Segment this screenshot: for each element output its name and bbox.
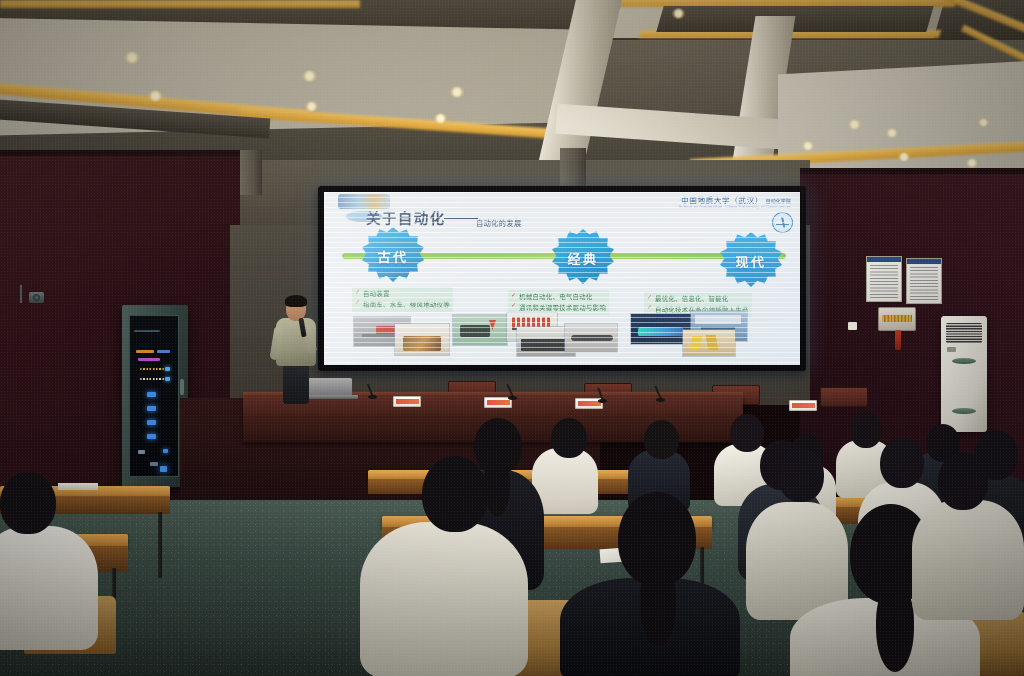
student-head <box>422 456 488 532</box>
wall-trim-left <box>0 150 240 156</box>
student-head <box>644 420 679 459</box>
lecture-hall-photo: 中国地质大学（武汉） 自动化学院 School of Automation, C… <box>0 0 1024 676</box>
desk-leg <box>158 512 162 578</box>
downlight-7 <box>848 119 861 130</box>
slide-subtitle: 自动化的发展 <box>476 219 522 229</box>
downlight-11 <box>966 158 978 168</box>
rack-led <box>160 466 167 472</box>
student-head <box>850 412 882 448</box>
rack-led <box>147 392 156 397</box>
ac-brand-logo <box>947 347 956 352</box>
student-head <box>778 448 824 502</box>
electrical-panel <box>878 307 916 331</box>
rack-led <box>147 420 156 425</box>
rack-led <box>136 350 154 353</box>
notice-poster-left <box>866 256 902 302</box>
desk-leg <box>700 547 704 587</box>
poster-text-lines <box>910 267 938 300</box>
ac-intake-grille <box>946 323 982 343</box>
modern-robotic-arms-photo <box>682 329 736 357</box>
rack-led <box>140 378 164 380</box>
bullet-group-ancient: ✓ 自动装置 ✓ 指南车、水车、候风地动仪等 <box>352 287 453 312</box>
book-on-desk-left <box>58 483 98 490</box>
cug-crest-icon <box>772 212 793 233</box>
microphone-base-1 <box>368 395 377 399</box>
downlight-3 <box>302 70 317 82</box>
bullet-text: 最优化、信息化、智能化 <box>655 294 729 303</box>
timeline-badge-classic-label: 经典 <box>567 249 598 268</box>
rack-led <box>150 462 158 466</box>
check-icon: ✓ <box>355 290 360 296</box>
rack-led <box>138 358 160 361</box>
student-head <box>0 472 56 534</box>
student-torso <box>912 500 1024 620</box>
slide-decoration-banner <box>338 194 390 209</box>
light-switch-plate[interactable] <box>848 322 857 330</box>
check-icon: ✓ <box>511 293 516 299</box>
student-head <box>938 452 988 510</box>
wall-pillar-center <box>240 150 262 195</box>
presentation-slide: 中国地质大学（武汉） 自动化学院 School of Automation, C… <box>324 192 800 365</box>
microphone-base-2 <box>508 396 517 400</box>
poster-header-bar <box>867 257 901 262</box>
check-icon: ✓ <box>647 305 652 311</box>
downlight-5 <box>450 86 464 98</box>
downlight-13 <box>672 8 685 19</box>
rack-glass-door[interactable] <box>129 315 179 477</box>
student-head <box>551 418 587 458</box>
downlight-4 <box>305 101 318 112</box>
poster-text-lines <box>870 265 898 298</box>
nameplate-1 <box>393 396 421 407</box>
podium-chair-5 <box>820 387 868 407</box>
rack-antenna <box>20 285 22 303</box>
timeline-badge-modern: 现代 <box>720 232 782 290</box>
presenter-hair <box>285 295 307 307</box>
student-torso <box>360 522 528 676</box>
check-icon: ✓ <box>511 303 516 309</box>
fire-extinguisher <box>895 330 901 350</box>
rack-led <box>138 450 145 454</box>
presenter-trousers <box>283 364 309 404</box>
rack-led <box>163 449 168 453</box>
rack-led <box>147 406 156 411</box>
poster-header-bar <box>907 259 941 264</box>
slide-title: 关于自动化 <box>366 208 446 229</box>
rack-led <box>147 434 156 439</box>
bullet-text: 机械自动化、电气自动化 <box>519 292 593 301</box>
check-icon: ✓ <box>647 295 652 301</box>
rack-led <box>140 368 164 370</box>
student-ponytail <box>484 458 510 516</box>
downlight-1 <box>124 51 140 64</box>
bullet-text: 指南车、水车、候风地动仪等 <box>363 300 450 309</box>
led-video-wall[interactable]: 中国地质大学（武汉） 自动化学院 School of Automation, C… <box>318 186 806 371</box>
rack-led <box>165 367 170 371</box>
timeline-badge-modern-label: 现代 <box>735 252 766 271</box>
presenter-speaking <box>272 296 320 404</box>
floor-standing-air-conditioner <box>941 316 987 432</box>
timeline-badge-ancient-label: 古代 <box>377 247 408 266</box>
ancient-waterwheel-photo <box>452 314 508 346</box>
slide-title-dash <box>444 218 478 219</box>
wall-trim-right <box>800 168 1024 174</box>
notice-poster-right <box>906 258 942 304</box>
check-icon: ✓ <box>355 300 360 306</box>
rack-led <box>157 350 170 353</box>
rack-led <box>134 330 160 332</box>
downlight-6 <box>434 113 447 124</box>
early-aircraft-photo <box>564 323 618 353</box>
student-torso <box>0 526 98 650</box>
camera-lens-icon <box>33 294 40 301</box>
university-wordmark: 中国地质大学（武汉） 自动化学院 School of Automation, C… <box>679 197 791 210</box>
downlight-8 <box>886 128 898 138</box>
student-head <box>730 414 764 452</box>
downlight-9 <box>802 141 814 151</box>
student-ponytail <box>640 564 676 646</box>
student-head <box>880 438 924 488</box>
cove-light-upper-left <box>0 0 360 8</box>
ancient-seismograph-drawing <box>394 323 450 356</box>
nameplate-4 <box>789 400 817 411</box>
student-ponytail <box>876 584 914 672</box>
microphone-base-4 <box>598 399 607 403</box>
ac-vent-upper <box>952 358 976 364</box>
downlight-2 <box>148 90 163 102</box>
downlight-10 <box>898 152 910 162</box>
microphone-base-3 <box>656 398 665 402</box>
bullet-text: 自动装置 <box>363 289 390 298</box>
ac-vent-lower <box>952 408 976 414</box>
bullet-text: 通讯和关键零技术驱动与影响 <box>519 303 606 312</box>
rack-door-handle[interactable] <box>180 379 184 395</box>
timeline-badge-classic: 经典 <box>552 229 614 287</box>
timeline-badge-ancient: 古代 <box>362 227 424 285</box>
university-name-en: School of Automation, China University o… <box>679 205 791 210</box>
rack-led <box>165 377 170 381</box>
downlight-12 <box>978 118 989 127</box>
server-equipment-rack <box>122 305 188 487</box>
